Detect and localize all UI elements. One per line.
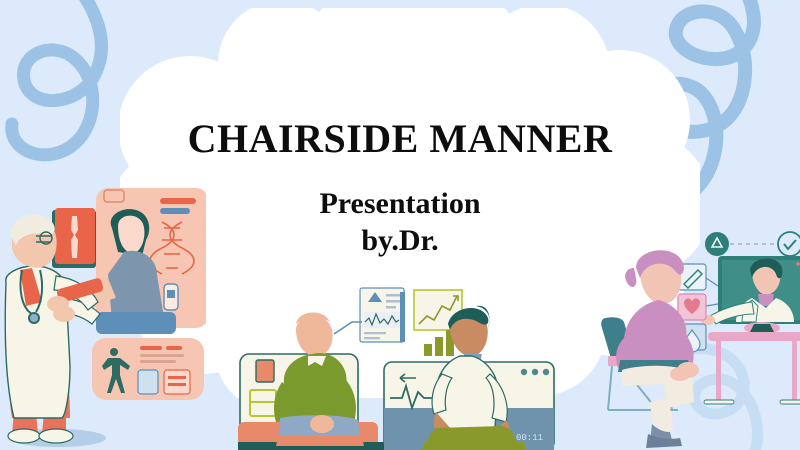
patient-and-doctor-seated-consultation: 00:11 <box>238 282 568 450</box>
slide-text-block: CHAIRSIDE MANNER Presentation by.Dr. <box>0 118 800 259</box>
presentation-slide: CHAIRSIDE MANNER Presentation by.Dr. <box>0 0 800 450</box>
desk <box>704 332 800 404</box>
monitor <box>701 256 800 334</box>
telemedicine-video-consultation <box>592 228 800 450</box>
bar-chart-icon <box>424 330 454 356</box>
page-title: CHAIRSIDE MANNER <box>0 118 800 160</box>
document-card <box>360 288 405 342</box>
subtitle-line-2: by.Dr. <box>0 223 800 260</box>
browser-window-dots <box>521 369 549 375</box>
call-timer: 00:11 <box>516 433 543 443</box>
subtitle-line-1: Presentation <box>319 187 480 220</box>
body-diagram-card <box>92 338 204 400</box>
slide-subtitle: Presentation by.Dr. <box>0 186 800 259</box>
